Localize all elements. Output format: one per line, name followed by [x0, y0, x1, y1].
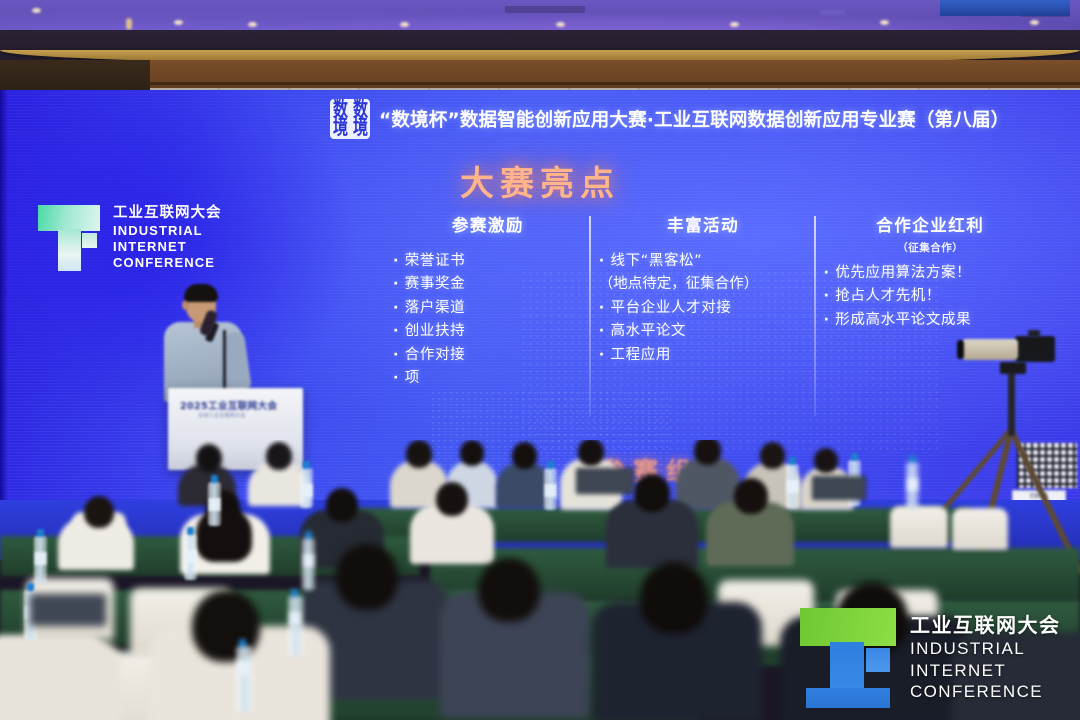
list-item: 平台企业人才对接 [599, 297, 808, 320]
attendee-head [406, 440, 432, 468]
list-item: 项 [393, 367, 583, 390]
attendee-body [0, 638, 120, 720]
venue-logo-en-2: INTERNET [113, 239, 222, 255]
water-bottle [184, 534, 197, 580]
column-heading: 丰富活动 [599, 212, 808, 236]
laptop [812, 476, 866, 500]
slide-banner-title: “数境杯”数据智能创新应用大赛·工业互联网数据创新应用专业赛（第八届） [379, 106, 1009, 132]
laptop [576, 468, 634, 494]
seal-line1: 数境 [330, 101, 350, 137]
column-subheading: （征集合作） [824, 240, 1037, 255]
list-item: 落户渠道 [393, 297, 583, 320]
attendee-head [640, 562, 708, 634]
ceiling-vent [505, 6, 585, 13]
watermark-en-1: INDUSTRIAL [910, 638, 1061, 659]
watermark-en-2: INTERNET [910, 660, 1061, 681]
water-bottle [236, 646, 253, 712]
list-item: 工程应用 [599, 344, 808, 367]
attendee-head [578, 440, 604, 466]
speaker-hair [184, 284, 218, 302]
list-item: 荣誉证书 [393, 250, 583, 273]
slide-columns: 参赛激励 荣誉证书 赛事奖金 落户渠道 创业扶持 合作对接 项 丰富活动 线下“… [385, 212, 1045, 391]
attendee-head [814, 448, 838, 473]
shujing-seal-logo: 数境 数境 [330, 99, 370, 139]
list-item: 赛事奖金 [393, 273, 583, 296]
list-item: （地点待定，征集合作） [599, 273, 808, 296]
watermark-en-3: CONFERENCE [910, 681, 1061, 702]
attendee-head [634, 474, 670, 512]
slide-column-incentives: 参赛激励 荣誉证书 赛事奖金 落户渠道 创业扶持 合作对接 项 [385, 212, 591, 391]
attendee-head [196, 444, 222, 472]
seal-line2: 数境 [350, 101, 370, 137]
list-item: 合作对接 [393, 344, 583, 367]
conference-watermark-logo: 工业互联网大会 INDUSTRIAL INTERNET CONFERENCE [800, 608, 1061, 708]
tripod-column [1008, 372, 1015, 436]
venue-logo-on-screen: 工业互联网大会 INDUSTRIAL INTERNET CONFERENCE [38, 205, 222, 271]
venue-logo-cn: 工业互联网大会 [113, 205, 222, 223]
water-bottle [302, 538, 315, 590]
attendee-head [512, 442, 537, 469]
attendee-head [478, 558, 540, 622]
ceiling-light [400, 22, 409, 27]
column-list: 荣誉证书 赛事奖金 落户渠道 创业扶持 合作对接 项 [393, 250, 583, 391]
microphone-stand [223, 330, 226, 392]
attendee-head [436, 482, 468, 516]
ti-monogram-icon [38, 205, 100, 271]
water-bottle [300, 468, 313, 508]
venue-logo-en-3: CONFERENCE [113, 255, 222, 271]
venue-logo-text: 工业互联网大会 INDUSTRIAL INTERNET CONFERENCE [113, 205, 222, 271]
attendee-head [460, 440, 484, 466]
ceiling-light [730, 22, 739, 27]
camera-body [1015, 336, 1055, 362]
podium-title: 2025工业互联网大会 [180, 398, 292, 412]
water-bottle [34, 536, 47, 584]
ceiling-light [248, 22, 257, 27]
water-bottle [288, 596, 304, 656]
podium-subtitle: 全球工业互联网大会 [198, 412, 290, 419]
column-list: 优先应用算法方案！ 抢占人才先机！ 形成高水平论文成果 [824, 262, 1037, 332]
column-heading: 合作企业红利 [824, 212, 1037, 236]
ti-monogram-icon [800, 608, 896, 708]
ceiling-light [32, 8, 41, 13]
venue-logo-en-1: INDUSTRIAL [113, 223, 222, 239]
ceiling-light [126, 18, 132, 30]
slide-banner: 数境 数境 “数境杯”数据智能创新应用大赛·工业互联网数据创新应用专业赛（第八届… [330, 100, 1075, 138]
ceiling-light [1030, 20, 1039, 25]
ceiling-light [556, 22, 565, 27]
column-list: 线下“黑客松” （地点待定，征集合作） 平台企业人才对接 高水平论文 工程应用 [599, 250, 808, 367]
water-bottle [786, 464, 799, 508]
list-item: 抢占人才先机！ [824, 285, 1037, 308]
list-item: 线下“黑客松” [599, 250, 808, 273]
watermark-cn: 工业互联网大会 [910, 613, 1061, 638]
attendee-head [326, 488, 358, 522]
attendee-head [694, 440, 721, 465]
camera-viewfinder [1028, 330, 1040, 337]
water-bottle [208, 482, 221, 526]
ceiling-light [174, 20, 183, 25]
camera-lens [962, 339, 1018, 360]
attendee-head [84, 496, 114, 528]
watermark-text: 工业互联网大会 INDUSTRIAL INTERNET CONFERENCE [910, 613, 1061, 702]
attendee-hair [196, 506, 252, 562]
ceiling-display [940, 0, 1070, 16]
list-item: 创业扶持 [393, 320, 583, 343]
attendee-head [266, 442, 292, 470]
attendee-head [760, 442, 785, 469]
ceiling-light [880, 20, 889, 25]
list-item: 形成高水平论文成果 [824, 309, 1037, 332]
list-item: 高水平论文 [599, 320, 808, 343]
tripod-head [1000, 362, 1026, 374]
slide-headline: 大赛亮点 [0, 156, 1080, 205]
list-item: 优先应用算法方案！ [824, 262, 1037, 285]
water-bottle [906, 462, 919, 510]
ceiling [0, 0, 1080, 30]
conference-photo: 数境 数境 “数境杯”数据智能创新应用大赛·工业互联网数据创新应用专业赛（第八届… [0, 0, 1080, 720]
column-heading: 参赛激励 [393, 212, 583, 236]
ceiling-vent [820, 10, 846, 15]
attendee-head [734, 478, 768, 514]
chair [952, 508, 1008, 550]
slide-column-activities: 丰富活动 线下“黑客松” （地点待定，征集合作） 平台企业人才对接 高水平论文 … [591, 212, 816, 391]
water-bottle [544, 468, 557, 510]
attendee-head [336, 544, 398, 610]
laptop [30, 594, 106, 626]
chair [890, 506, 948, 548]
